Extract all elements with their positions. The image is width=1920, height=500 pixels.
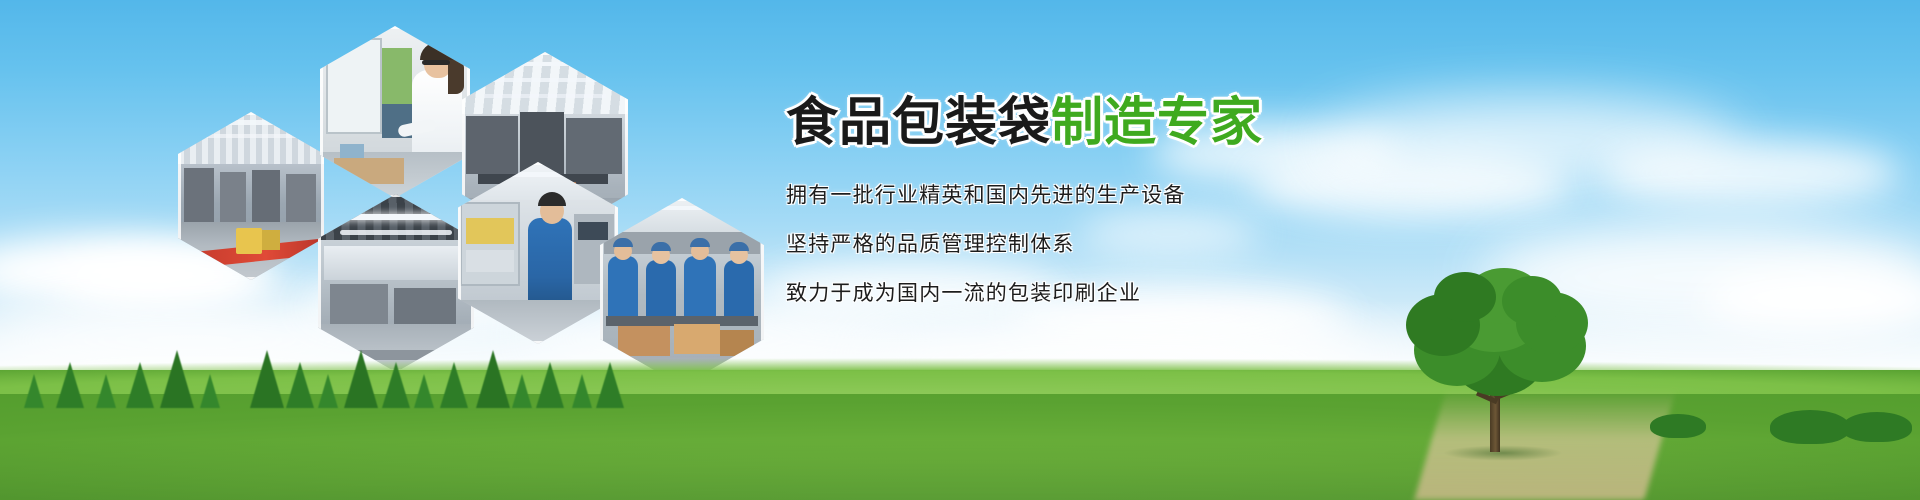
- hex-photo-cluster: [170, 10, 780, 370]
- shrub: [1650, 414, 1706, 438]
- hex-photo-factory-warehouse-forklift: [178, 112, 324, 280]
- banner-headline: 食品包装袋制造专家: [786, 96, 1486, 151]
- tree: [1398, 262, 1598, 452]
- hex-photo-lab-technician-inspecting: [320, 26, 470, 198]
- banner-text-block: 食品包装袋制造专家 拥有一批行业精英和国内先进的生产设备 坚持严格的品质管理控制…: [786, 96, 1486, 304]
- shrub: [1770, 410, 1850, 444]
- headline-part-green: 制造专家: [1051, 94, 1263, 152]
- promo-banner: 食品包装袋制造专家 拥有一批行业精英和国内先进的生产设备 坚持严格的品质管理控制…: [0, 0, 1920, 500]
- banner-subline: 坚持严格的品质管理控制体系: [786, 234, 1486, 255]
- headline-part-dark: 食品包装袋: [786, 94, 1051, 152]
- banner-subline: 拥有一批行业精英和国内先进的生产设备: [786, 185, 1486, 206]
- banner-subline-list: 拥有一批行业精英和国内先进的生产设备 坚持严格的品质管理控制体系 致力于成为国内…: [786, 185, 1486, 304]
- shrub: [1842, 412, 1912, 442]
- banner-subline: 致力于成为国内一流的包装印刷企业: [786, 283, 1486, 304]
